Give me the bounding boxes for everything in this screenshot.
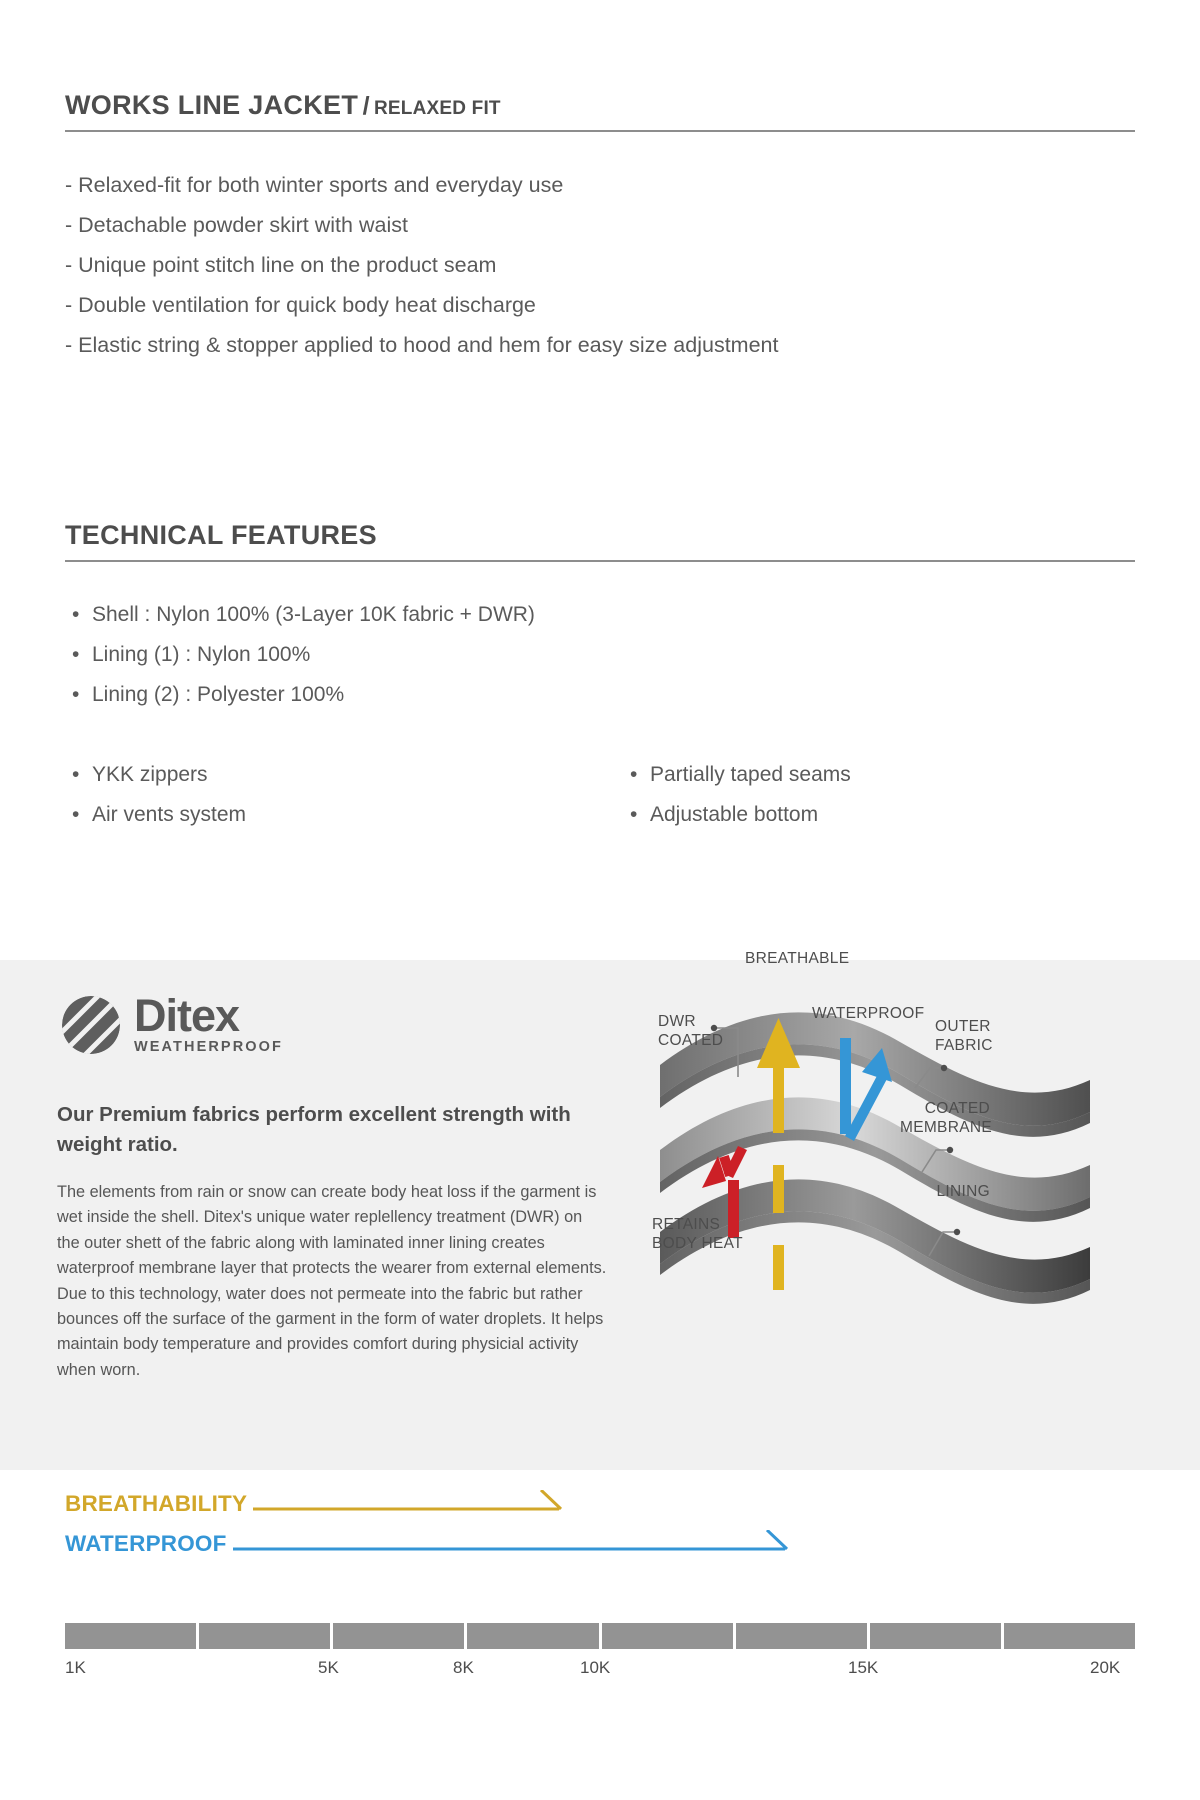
scale-bar-segment [1004,1623,1135,1649]
outer-fabric-line-1: OUTER [935,1017,990,1036]
list-item: - Elastic string & stopper applied to ho… [65,325,778,365]
list-item: Lining (2) : Polyester 100% [72,675,535,715]
waterproof-scale-label: WATERPROOF [65,1531,227,1557]
extras-list-right: Partially taped seams Adjustable bottom [630,755,851,835]
scale-tick-15k: 15K [848,1658,878,1678]
retains-line-1: RETAINS [652,1215,743,1234]
scale-bar-segment [870,1623,1001,1649]
brand-name: Ditex [134,995,283,1037]
scale-tick-5k: 5K [318,1658,339,1678]
ditex-brand-panel: Ditex WEATHERPROOF Our Premium fabrics p… [0,960,1200,1470]
list-item: - Detachable powder skirt with waist [65,205,778,245]
product-feature-list: - Relaxed-fit for both winter sports and… [65,165,778,365]
scale-tick-20k: 20K [1090,1658,1120,1678]
breathability-row: BREATHABILITY [65,1490,583,1518]
list-item: YKK zippers [72,755,246,795]
waterproof-row: WATERPROOF [65,1530,813,1558]
scale-bar-segment [65,1623,196,1649]
scale-bar-segment [333,1623,464,1649]
scale-bar-segment [736,1623,867,1649]
retains-line-2: BODY HEAT [652,1234,743,1253]
waterproof-arrow-icon [233,1530,813,1558]
outer-fabric-line-2: FABRIC [935,1036,990,1055]
ditex-logo: Ditex WEATHERPROOF [62,995,283,1055]
coated-membrane-line-1: COATED [900,1099,990,1118]
scale-bar-segment [602,1623,733,1649]
product-title-header: WORKS LINE JACKET / RELAXED FIT [65,90,1135,132]
coated-membrane-line-2: MEMBRANE [900,1118,990,1137]
breathability-label: BREATHABILITY [65,1491,247,1517]
dwr-coated-label: DWR COATED [658,1012,723,1050]
dwr-coated-line-1: DWR [658,1012,723,1031]
list-item: Shell : Nylon 100% (3-Layer 10K fabric +… [72,595,535,635]
ditex-logo-text: Ditex WEATHERPROOF [134,995,283,1055]
brand-lede: Our Premium fabrics perform excellent st… [57,1100,617,1160]
scale-bar-track [65,1623,1135,1649]
layer-lining-label: LINING [930,1182,990,1201]
spec-sheet-page: WORKS LINE JACKET / RELAXED FIT - Relaxe… [0,0,1200,1800]
list-item: Air vents system [72,795,246,835]
scale-tick-10k: 10K [580,1658,610,1678]
breathability-arrow-icon [253,1490,583,1518]
lining-leader-dot [954,1229,960,1235]
layer-coated-membrane-label: COATED MEMBRANE [900,1099,990,1137]
list-item: - Relaxed-fit for both winter sports and… [65,165,778,205]
scale-tick-8k: 8K [453,1658,474,1678]
dwr-coated-line-2: COATED [658,1031,723,1050]
list-item: - Unique point stitch line on the produc… [65,245,778,285]
list-item: Lining (1) : Nylon 100% [72,635,535,675]
technical-features-header: TECHNICAL FEATURES [65,520,1135,562]
scale-bar-segment [199,1623,330,1649]
title-separator: / [363,92,370,120]
material-list: Shell : Nylon 100% (3-Layer 10K fabric +… [72,595,535,715]
waterproof-label: WATERPROOF [812,1004,924,1023]
list-item: Adjustable bottom [630,795,851,835]
extras-list-left: YKK zippers Air vents system [72,755,246,835]
fabric-layer-diagram: BREATHABLE WATERPROOF DWR COATED RETAINS… [630,960,1200,1470]
scale-bar-segment [467,1623,598,1649]
list-item: Partially taped seams [630,755,851,795]
retains-body-heat-label: RETAINS BODY HEAT [652,1215,743,1253]
technical-features-title: TECHNICAL FEATURES [65,520,377,550]
breathable-arrow-icon [757,1018,800,1290]
brand-tagline: WEATHERPROOF [134,1039,283,1055]
ditex-logo-icon [62,996,120,1054]
list-item: - Double ventilation for quick body heat… [65,285,778,325]
outer-leader-dot [941,1065,947,1071]
product-fit-label: RELAXED FIT [374,98,501,119]
membrane-leader-dot [947,1147,953,1153]
brand-body-text: The elements from rain or snow can creat… [57,1180,609,1383]
layer-outer-fabric-label: OUTER FABRIC [935,1017,990,1055]
breathable-label: BREATHABLE [745,949,849,968]
page-title: WORKS LINE JACKET [65,90,358,120]
scale-tick-1k: 1K [65,1658,86,1678]
